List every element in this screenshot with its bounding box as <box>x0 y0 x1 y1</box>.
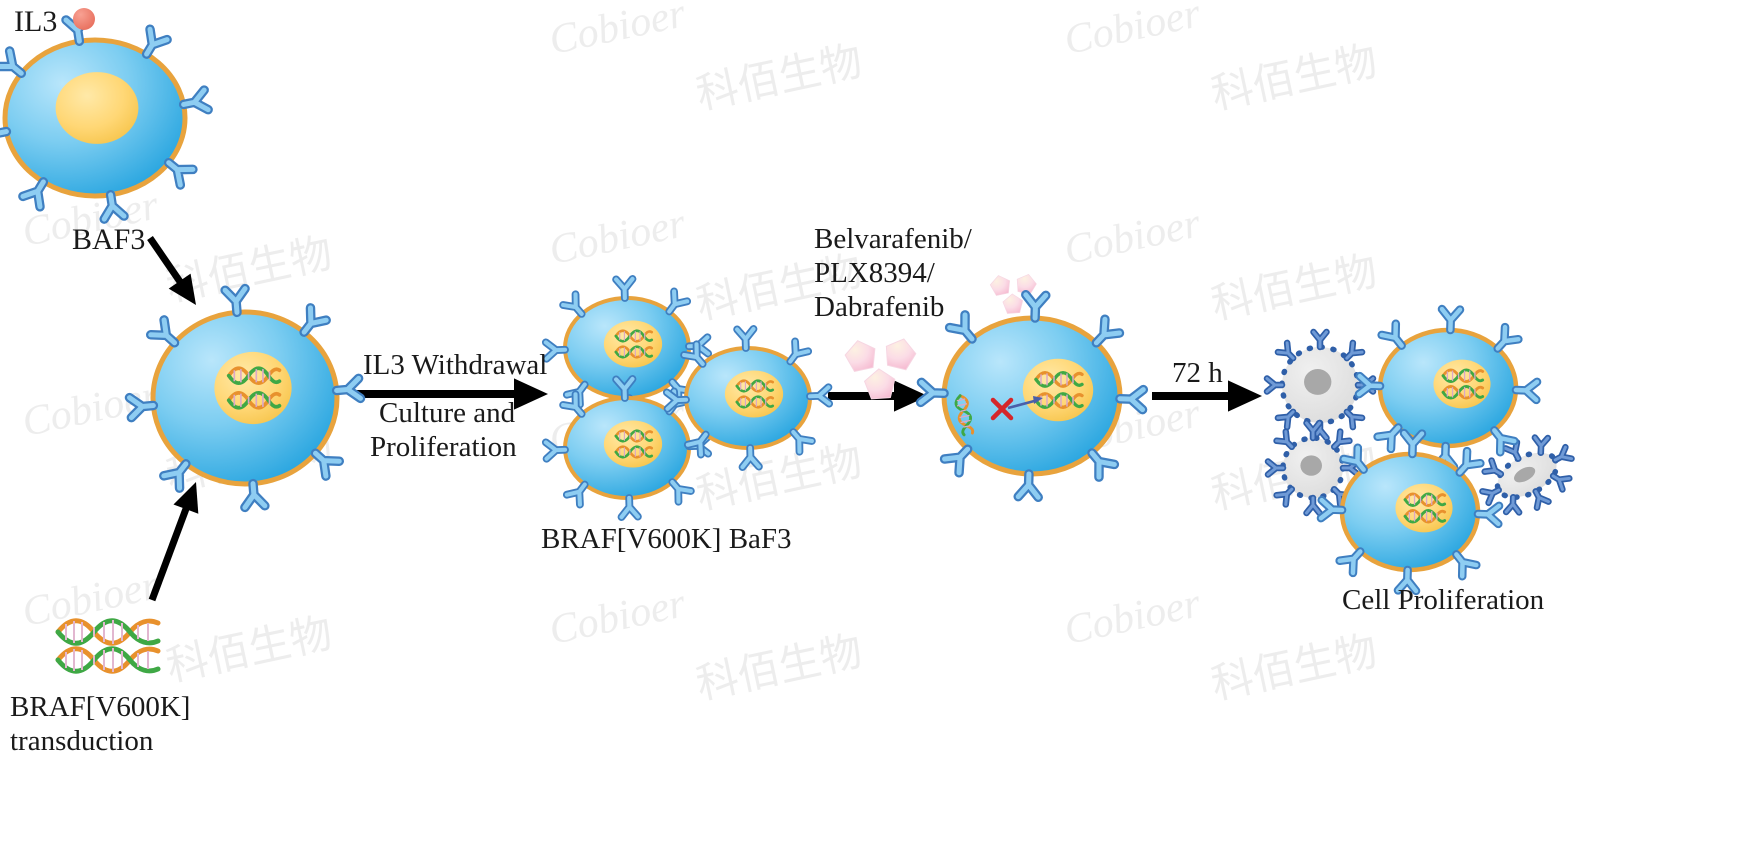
label-drug3: Dabrafenib <box>814 290 944 325</box>
label-proliferation: Proliferation <box>370 430 517 465</box>
label-transduction2: transduction <box>10 724 153 759</box>
label-drug1: Belvarafenib/ <box>814 222 972 257</box>
label-drug2: PLX8394/ <box>814 256 935 291</box>
label-cell-prolif: Cell Proliferation <box>1342 583 1544 618</box>
label-time-72h: 72 h <box>1172 356 1223 391</box>
label-culture-and: Culture and <box>379 396 515 431</box>
label-braf-baf3: BRAF[V600K] BaF3 <box>541 522 792 557</box>
label-il3: IL3 <box>14 4 57 41</box>
label-layer: IL3BAF3IL3 WithdrawalCulture andProlifer… <box>0 0 1763 848</box>
label-il3-withdrawal: IL3 Withdrawal <box>363 348 547 383</box>
label-baf3: BAF3 <box>72 222 145 259</box>
figure-canvas: Cobioer科佰生物Cobioer科佰生物Cobioer科佰生物Cobioer… <box>0 0 1763 848</box>
label-transduction1: BRAF[V600K] <box>10 690 190 725</box>
